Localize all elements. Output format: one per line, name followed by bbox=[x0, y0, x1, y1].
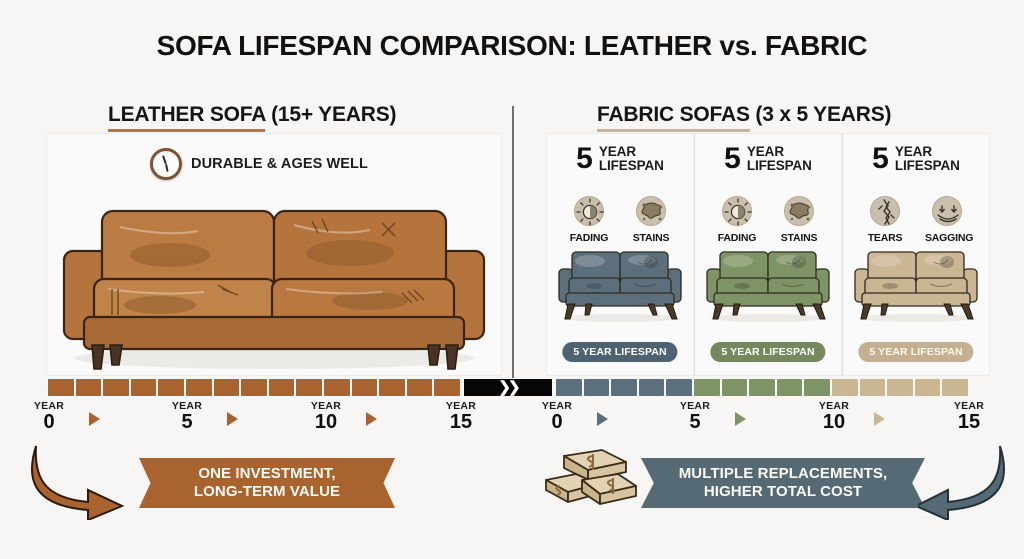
leather-timeline-bar bbox=[48, 379, 460, 396]
section-divider bbox=[512, 106, 514, 378]
fabric-issue-label: STAINS bbox=[629, 232, 673, 244]
timeline-segment bbox=[611, 379, 637, 396]
curved-arrow-right-icon bbox=[26, 444, 132, 520]
fabric-lifespan-badge: 5 YEAR LIFESPAN bbox=[858, 342, 973, 362]
double-chevron-right-icon: ❯❯ bbox=[498, 380, 517, 395]
fabric-lifespan-unit-line2: LIFESPAN bbox=[747, 158, 812, 173]
timeline-tick-5: YEAR5 bbox=[158, 400, 216, 433]
fabric-lifespan-row: 5YEARLIFESPAN bbox=[695, 145, 841, 174]
fabric-issue-label: FADING bbox=[567, 232, 611, 244]
timeline-segment bbox=[804, 379, 830, 396]
leather-heading-underlined: LEATHER SOFA bbox=[108, 103, 265, 132]
fabric-lifespan-badge: 5 YEAR LIFESPAN bbox=[562, 342, 677, 362]
fabric-issue-1: FADING bbox=[715, 196, 759, 244]
page-title: SOFA LIFESPAN COMPARISON: LEATHER vs. FA… bbox=[0, 30, 1024, 62]
timeline-segment bbox=[269, 379, 295, 396]
fabric-issue-label: FADING bbox=[715, 232, 759, 244]
fabric-conclusion-line2: HIGHER TOTAL COST bbox=[704, 483, 862, 500]
sagging-face-icon bbox=[932, 196, 962, 226]
fabric-issue-2: STAINS bbox=[777, 196, 821, 244]
timeline-segment bbox=[241, 379, 267, 396]
timeline-separator: ❯❯ bbox=[464, 379, 552, 396]
fabric-issues: FADINGSTAINS bbox=[547, 196, 693, 244]
fabric-timeline-ticks: YEAR0YEAR5YEAR10YEAR15 bbox=[528, 400, 998, 434]
fabric-issue-2: STAINS bbox=[629, 196, 673, 244]
fabric-lifespan-unit-line2: LIFESPAN bbox=[895, 158, 960, 173]
fabric-lifespan-number: 5 bbox=[872, 145, 889, 174]
fabric-lifespan-number: 5 bbox=[724, 145, 741, 174]
fabric-conclusion-banner: MULTIPLE REPLACEMENTS, HIGHER TOTAL COST bbox=[641, 458, 925, 508]
fabric-issues: FADINGSTAINS bbox=[695, 196, 841, 244]
leather-sofa-illustration bbox=[50, 193, 498, 373]
timeline-tick-0: YEAR0 bbox=[20, 400, 78, 433]
leather-feature-label: DURABLE & AGES WELL bbox=[191, 156, 368, 172]
leather-conclusion-line1: ONE INVESTMENT, bbox=[198, 465, 335, 482]
fabric-conclusion-line1: MULTIPLE REPLACEMENTS, bbox=[679, 465, 888, 482]
timeline-segment bbox=[942, 379, 968, 396]
fabric-columns: 5YEARLIFESPANFADINGSTAINS5 YEAR LIFESPAN… bbox=[546, 133, 990, 376]
timeline-segment bbox=[296, 379, 322, 396]
fading-sun-icon bbox=[722, 196, 752, 226]
leather-feature-row: DURABLE & AGES WELL bbox=[150, 148, 368, 180]
fabric-heading-underlined: FABRIC SOFAS bbox=[597, 103, 750, 132]
timeline-tick-number: 10 bbox=[297, 412, 355, 433]
fabric-lifespan-number: 5 bbox=[576, 145, 593, 174]
fabric-lifespan-unit-line1: YEAR bbox=[895, 144, 932, 159]
timeline-segment bbox=[832, 379, 858, 396]
timeline-segment bbox=[76, 379, 102, 396]
timeline-segment bbox=[214, 379, 240, 396]
fabric-lifespan-unit: YEARLIFESPAN bbox=[895, 145, 960, 173]
fabric-lifespan-row: 5YEARLIFESPAN bbox=[843, 145, 989, 174]
fabric-issue-2: SAGGING bbox=[925, 196, 969, 244]
timeline-segment bbox=[777, 379, 803, 396]
timeline-marker-triangle bbox=[227, 412, 238, 426]
fabric-timeline-bar bbox=[556, 379, 968, 396]
timeline-segment bbox=[407, 379, 433, 396]
timeline-segment bbox=[324, 379, 350, 396]
stain-splat-icon bbox=[636, 196, 666, 226]
fading-sun-icon bbox=[574, 196, 604, 226]
timeline-tick-number: 0 bbox=[20, 412, 78, 433]
timeline-tick-number: 15 bbox=[940, 412, 998, 433]
fabric-issue-label: TEARS bbox=[863, 232, 907, 244]
fabric-column-1: 5YEARLIFESPANFADINGSTAINS5 YEAR LIFESPAN bbox=[546, 133, 694, 376]
leather-conclusion-text: ONE INVESTMENT, LONG-TERM VALUE bbox=[194, 465, 340, 502]
money-stacks-icon bbox=[542, 446, 638, 510]
tear-crack-icon bbox=[870, 196, 900, 226]
infographic-canvas: SOFA LIFESPAN COMPARISON: LEATHER vs. FA… bbox=[0, 0, 1024, 559]
timeline-tick-number: 10 bbox=[805, 412, 863, 433]
timeline-tick-number: 0 bbox=[528, 412, 586, 433]
beige-fabric-sofa-illustration bbox=[852, 246, 980, 324]
fabric-issue-label: STAINS bbox=[777, 232, 821, 244]
fabric-section-heading: FABRIC SOFAS (3 x 5 YEARS) bbox=[597, 103, 891, 127]
timeline-segment bbox=[379, 379, 405, 396]
leather-conclusion-banner: ONE INVESTMENT, LONG-TERM VALUE bbox=[139, 458, 395, 508]
timeline-marker-triangle bbox=[874, 412, 885, 426]
leather-section-heading: LEATHER SOFA (15+ YEARS) bbox=[108, 103, 396, 127]
fabric-column-3: 5YEARLIFESPANTEARSSAGGING5 YEAR LIFESPAN bbox=[842, 133, 990, 376]
timeline-marker-triangle bbox=[597, 412, 608, 426]
fabric-lifespan-row: 5YEARLIFESPAN bbox=[547, 145, 693, 174]
timeline-tick-5: YEAR5 bbox=[666, 400, 724, 433]
blue-fabric-sofa-illustration bbox=[556, 246, 684, 324]
fabric-issue-1: TEARS bbox=[863, 196, 907, 244]
fabric-conclusion-text: MULTIPLE REPLACEMENTS, HIGHER TOTAL COST bbox=[679, 465, 888, 502]
stain-splat-icon bbox=[784, 196, 814, 226]
fabric-issue-label: SAGGING bbox=[925, 232, 969, 244]
timeline-segment bbox=[860, 379, 886, 396]
fabric-lifespan-unit-line1: YEAR bbox=[747, 144, 784, 159]
timeline-segment bbox=[556, 379, 582, 396]
fabric-issue-1: FADING bbox=[567, 196, 611, 244]
timeline-tick-number: 5 bbox=[158, 412, 216, 433]
timeline-tick-10: YEAR10 bbox=[805, 400, 863, 433]
timeline-segment bbox=[915, 379, 941, 396]
fabric-lifespan-unit-line1: YEAR bbox=[599, 144, 636, 159]
timeline-segment bbox=[887, 379, 913, 396]
leather-heading-rest: (15+ YEARS) bbox=[265, 103, 396, 126]
timeline-segment bbox=[694, 379, 720, 396]
timeline-segment bbox=[722, 379, 748, 396]
timeline-segment bbox=[158, 379, 184, 396]
timeline-segment bbox=[186, 379, 212, 396]
fabric-lifespan-unit-line2: LIFESPAN bbox=[599, 158, 664, 173]
timeline-tick-15: YEAR15 bbox=[432, 400, 490, 433]
leather-conclusion-line2: LONG-TERM VALUE bbox=[194, 483, 340, 500]
timeline-marker-triangle bbox=[366, 412, 377, 426]
timeline-segment bbox=[666, 379, 692, 396]
timeline-segment bbox=[48, 379, 74, 396]
timeline-marker-triangle bbox=[89, 412, 100, 426]
timeline-tick-0: YEAR0 bbox=[528, 400, 586, 433]
timeline-segment bbox=[434, 379, 460, 396]
timeline-segment bbox=[103, 379, 129, 396]
fabric-column-2: 5YEARLIFESPANFADINGSTAINS5 YEAR LIFESPAN bbox=[694, 133, 842, 376]
fabric-lifespan-unit: YEARLIFESPAN bbox=[599, 145, 664, 173]
timeline-segment bbox=[584, 379, 610, 396]
curved-arrow-left-icon bbox=[918, 444, 1010, 520]
timeline-tick-number: 5 bbox=[666, 412, 724, 433]
timeline-marker-triangle bbox=[735, 412, 746, 426]
fabric-lifespan-unit: YEARLIFESPAN bbox=[747, 145, 812, 173]
timeline-segment bbox=[639, 379, 665, 396]
timeline-segment bbox=[352, 379, 378, 396]
timeline-segment bbox=[131, 379, 157, 396]
fabric-lifespan-badge: 5 YEAR LIFESPAN bbox=[710, 342, 825, 362]
clock-icon bbox=[150, 148, 182, 180]
green-fabric-sofa-illustration bbox=[704, 246, 832, 324]
timeline-tick-10: YEAR10 bbox=[297, 400, 355, 433]
timeline-tick-number: 15 bbox=[432, 412, 490, 433]
leather-timeline-ticks: YEAR0YEAR5YEAR10YEAR15 bbox=[20, 400, 490, 434]
fabric-issues: TEARSSAGGING bbox=[843, 196, 989, 244]
timeline-tick-15: YEAR15 bbox=[940, 400, 998, 433]
fabric-heading-rest: (3 x 5 YEARS) bbox=[750, 103, 892, 126]
timeline-segment bbox=[749, 379, 775, 396]
